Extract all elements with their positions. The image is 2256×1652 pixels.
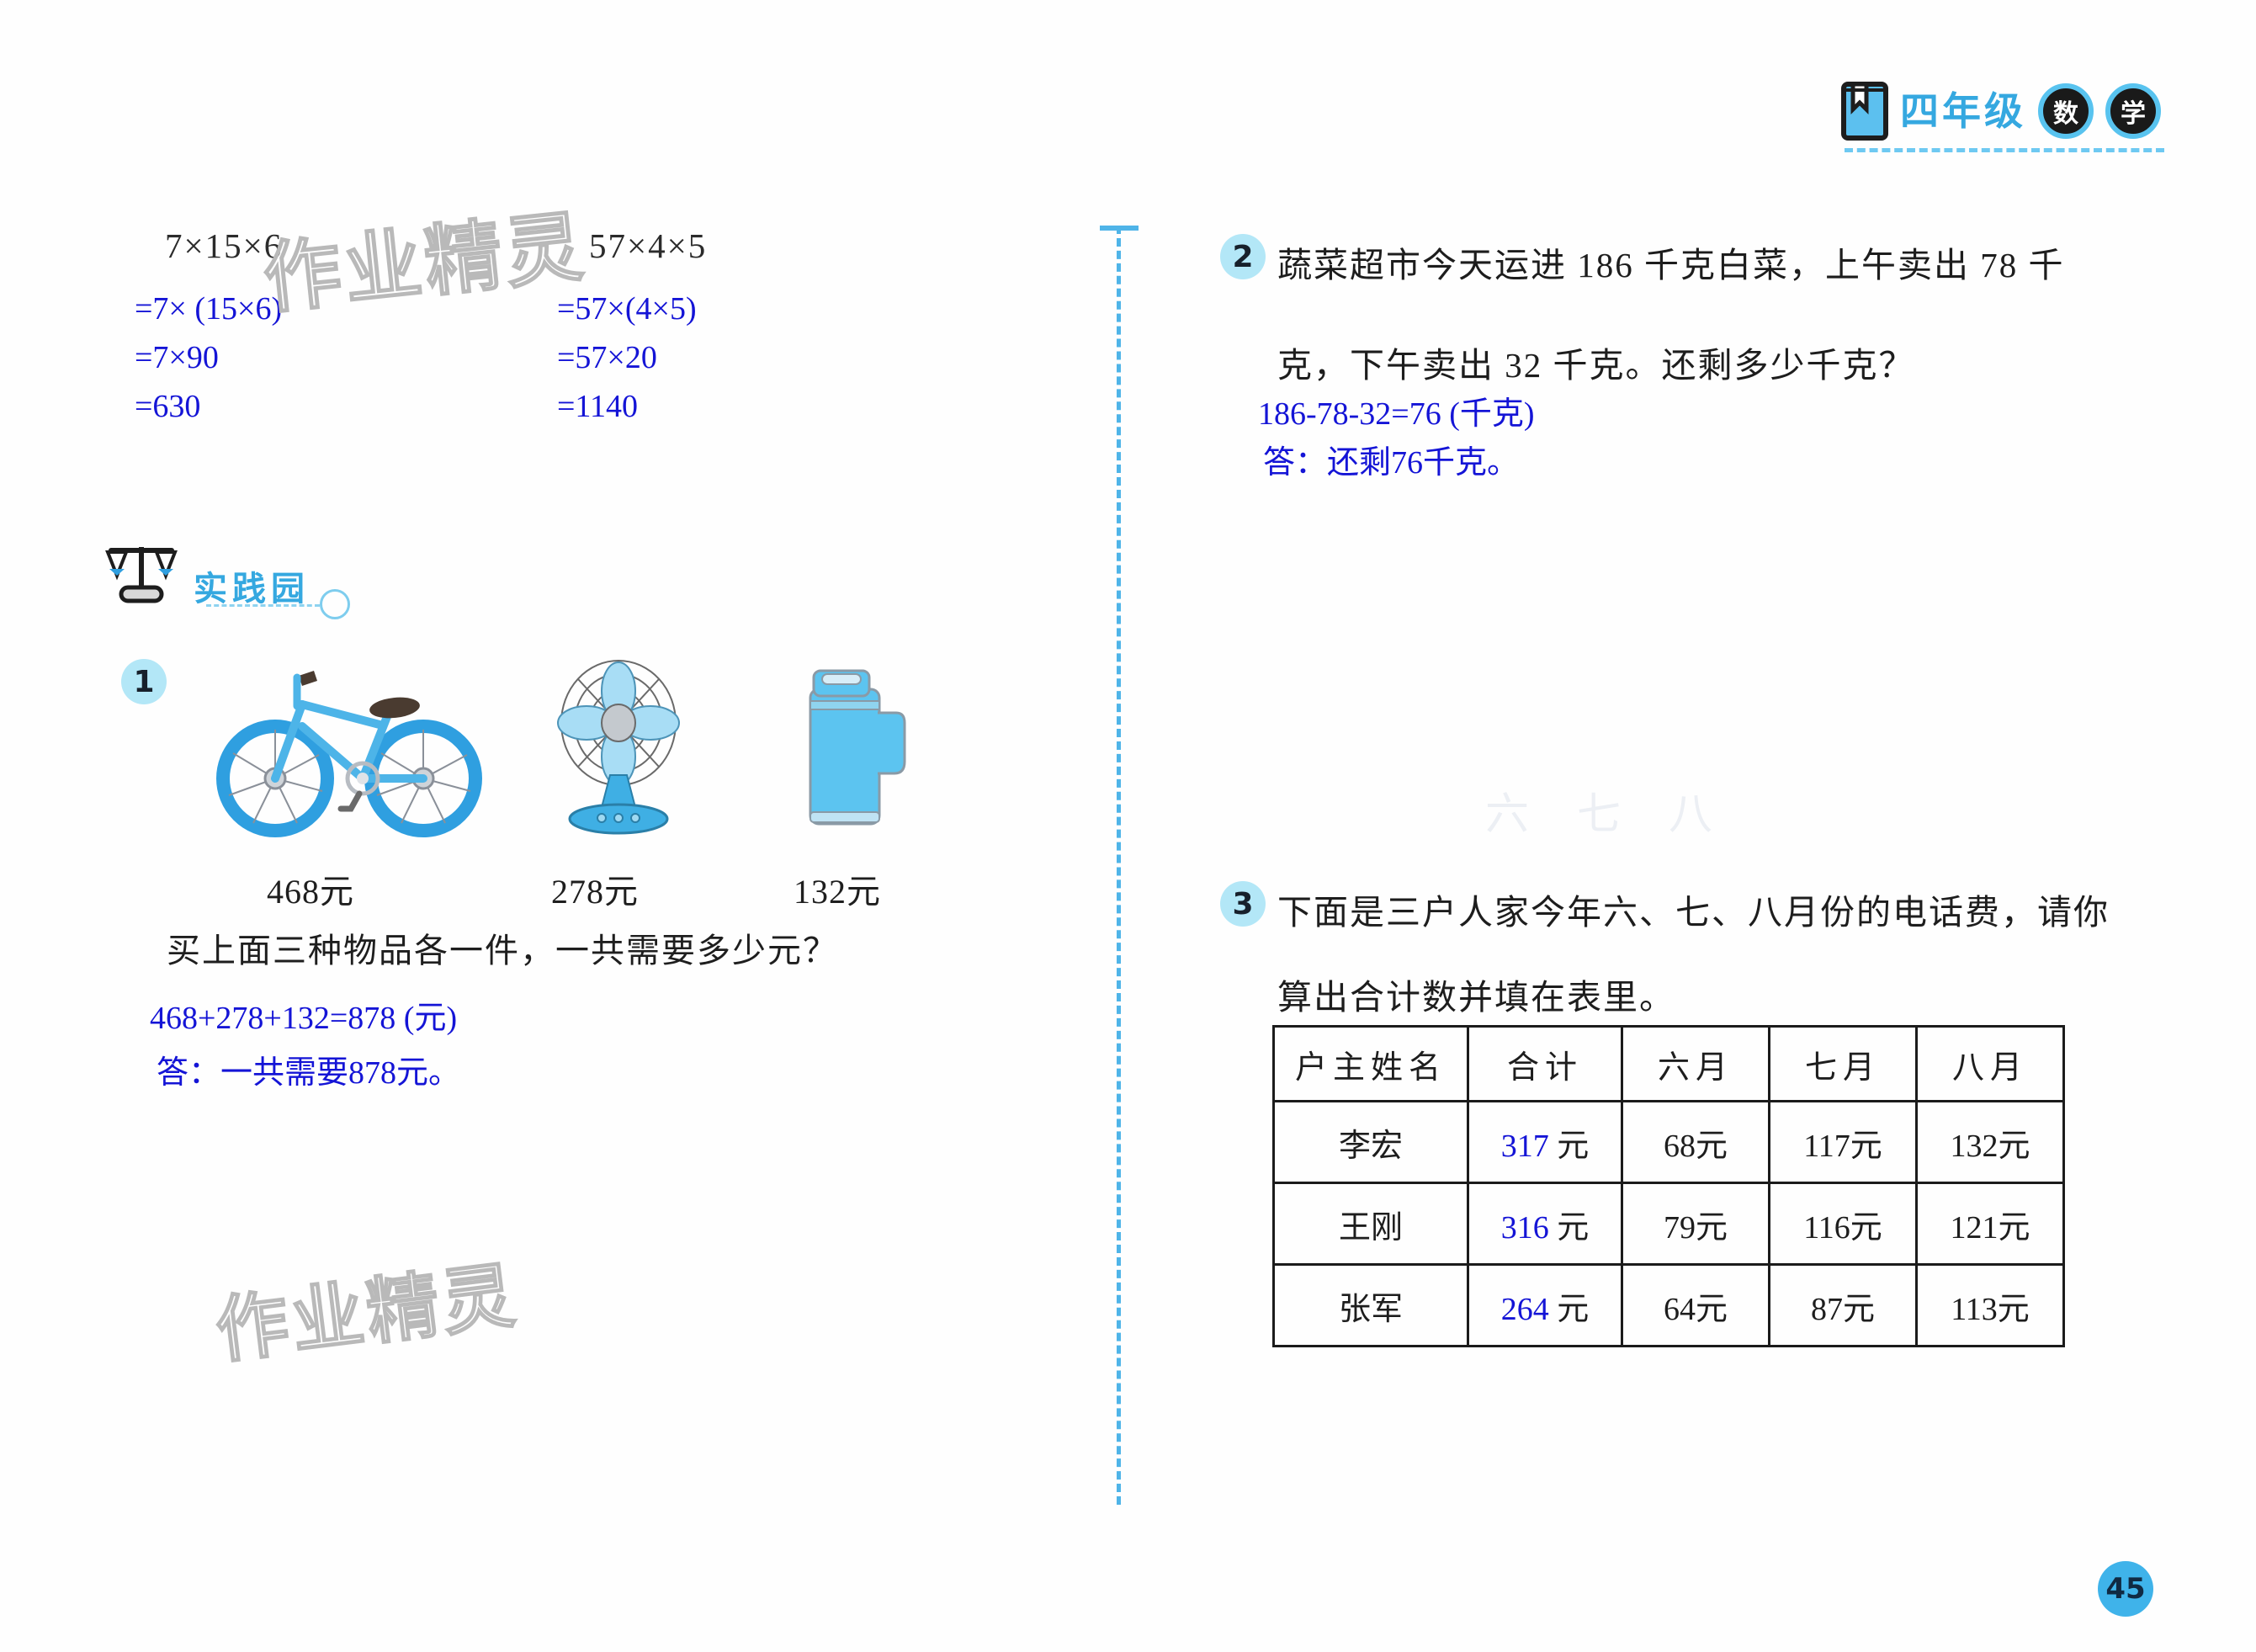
august-value: 121 <box>1950 1210 1998 1246</box>
july-value: 116 <box>1803 1210 1850 1246</box>
cell-july: 117元 <box>1770 1102 1917 1183</box>
table-row: 王刚 316 元 79元 116元 121元 <box>1274 1183 2064 1265</box>
unit-yuan: 元 <box>1696 1129 1728 1164</box>
cell-june: 68元 <box>1622 1102 1770 1183</box>
total-value: 316 <box>1501 1210 1549 1246</box>
cell-name: 李宏 <box>1274 1102 1468 1183</box>
book-icon <box>1841 81 1888 141</box>
cell-june: 79元 <box>1622 1183 1770 1265</box>
thermos-icon <box>788 662 915 843</box>
price-bicycle: 468元 <box>267 864 354 913</box>
july-value: 87 <box>1811 1292 1843 1327</box>
june-value: 68 <box>1664 1129 1696 1164</box>
phone-bill-table: 户主姓名 合计 六月 七月 八月 李宏 317 元 68元 117元 <box>1272 1025 2065 1347</box>
unit-yuan: 元 <box>1850 1129 1882 1164</box>
section-heading-practice: 实践园 <box>99 539 310 610</box>
problem-1-question: 买上面三种物品各一件，一共需要多少元？ <box>167 923 838 972</box>
unit-yuan: 元 <box>1696 1292 1728 1327</box>
fan-icon <box>543 657 694 843</box>
exercise-2-step-1: =57×(4×5) <box>557 290 697 327</box>
header-total: 合计 <box>1468 1027 1622 1102</box>
product-row: 468元 278元 132元 <box>215 652 947 930</box>
cell-july: 116元 <box>1770 1183 1917 1265</box>
table-row: 张军 264 元 64元 87元 113元 <box>1274 1265 2064 1347</box>
grade-title: 四年级 <box>1900 92 2026 130</box>
unit-yuan: 元 <box>1557 1210 1589 1246</box>
page-number: 45 <box>2098 1561 2153 1617</box>
unit-yuan: 元 <box>1696 1210 1728 1246</box>
price-fan: 278元 <box>551 864 639 913</box>
subject-char-shu: 数 <box>2038 83 2094 139</box>
problem-3-number: 3 <box>1220 881 1266 927</box>
problem-2-answer: 答：还剩76千克。 <box>1263 436 1519 482</box>
june-value: 79 <box>1664 1210 1696 1246</box>
problem-1-number: 1 <box>121 659 167 704</box>
july-value: 117 <box>1803 1129 1850 1164</box>
total-value: 317 <box>1501 1129 1549 1164</box>
cell-august: 121元 <box>1917 1183 2064 1265</box>
header-july: 七月 <box>1770 1027 1917 1102</box>
exercise-2-expression: 57×4×5 <box>589 226 707 266</box>
problem-3-question-line-1: 下面是三户人家今年六、七、八月份的电话费，请你 <box>1277 884 2110 934</box>
worksheet-page: 四年级 数 学 7×15×6 =7× (15×6) =7×90 =630 57×… <box>0 0 2256 1652</box>
problem-1-answer: 答：一共需要878元。 <box>157 1046 460 1092</box>
header-june: 六月 <box>1622 1027 1770 1102</box>
exercise-2-step-2: =57×20 <box>557 339 657 376</box>
cell-july: 87元 <box>1770 1265 1917 1347</box>
cell-august: 113元 <box>1917 1265 2064 1347</box>
price-thermos: 132元 <box>794 864 881 913</box>
unit-yuan: 元 <box>1998 1129 2030 1164</box>
problem-2-question-line-1: 蔬菜超市今天运进 186 千克白菜，上午卖出 78 千 <box>1277 236 2065 287</box>
table-row: 李宏 317 元 68元 117元 132元 <box>1274 1102 2064 1183</box>
june-value: 64 <box>1664 1292 1696 1327</box>
total-value: 264 <box>1501 1292 1549 1327</box>
column-divider <box>1117 226 1121 1505</box>
august-value: 132 <box>1950 1129 1998 1164</box>
unit-yuan: 元 <box>1843 1292 1875 1327</box>
watermark-top: 作业精灵 <box>257 183 591 328</box>
problem-2-number: 2 <box>1220 234 1266 279</box>
bicycle-icon <box>215 652 484 843</box>
unit-yuan: 元 <box>1557 1292 1589 1327</box>
exercise-2-step-3: =1140 <box>557 388 638 425</box>
watermark-bottom: 作业精灵 <box>210 1236 523 1378</box>
exercise-1-step-2: =7×90 <box>135 339 219 376</box>
problem-2-work: 186-78-32=76 (千克) <box>1258 387 1535 433</box>
problem-2-question-line-2: 克，下午卖出 32 千克。还剩多少千克？ <box>1277 337 1915 387</box>
cell-total[interactable]: 264 元 <box>1468 1265 1622 1347</box>
unit-yuan: 元 <box>1850 1210 1882 1246</box>
cell-total[interactable]: 317 元 <box>1468 1102 1622 1183</box>
section-label: 实践园 <box>194 561 310 610</box>
table-header-row: 户主姓名 合计 六月 七月 八月 <box>1274 1027 2064 1102</box>
header-underline <box>1845 148 2164 152</box>
section-end-dot <box>320 589 350 619</box>
header-badge: 四年级 数 学 <box>1841 81 2161 141</box>
problem-3-question-line-2: 算出合计数并填在表里。 <box>1277 969 1675 1019</box>
header-august: 八月 <box>1917 1027 2064 1102</box>
problem-1-work: 468+278+132=878 (元) <box>150 991 457 1038</box>
cell-name: 王刚 <box>1274 1183 1468 1265</box>
exercise-1-step-1: =7× (15×6) <box>135 290 282 327</box>
unit-yuan: 元 <box>1998 1210 2030 1246</box>
cell-name: 张军 <box>1274 1265 1468 1347</box>
header-household-name: 户主姓名 <box>1274 1027 1468 1102</box>
ghost-watermark: 六 七 八 <box>1485 778 1731 842</box>
unit-yuan: 元 <box>1557 1129 1589 1164</box>
section-rule <box>206 604 320 607</box>
exercise-1-step-3: =630 <box>135 388 200 425</box>
cell-june: 64元 <box>1622 1265 1770 1347</box>
subject-char-xue: 学 <box>2105 83 2161 139</box>
august-value: 113 <box>1951 1292 1998 1327</box>
cell-total[interactable]: 316 元 <box>1468 1183 1622 1265</box>
cell-august: 132元 <box>1917 1102 2064 1183</box>
unit-yuan: 元 <box>1998 1292 2030 1327</box>
exercise-1-expression: 7×15×6 <box>165 226 283 266</box>
balance-scale-icon <box>99 539 183 610</box>
